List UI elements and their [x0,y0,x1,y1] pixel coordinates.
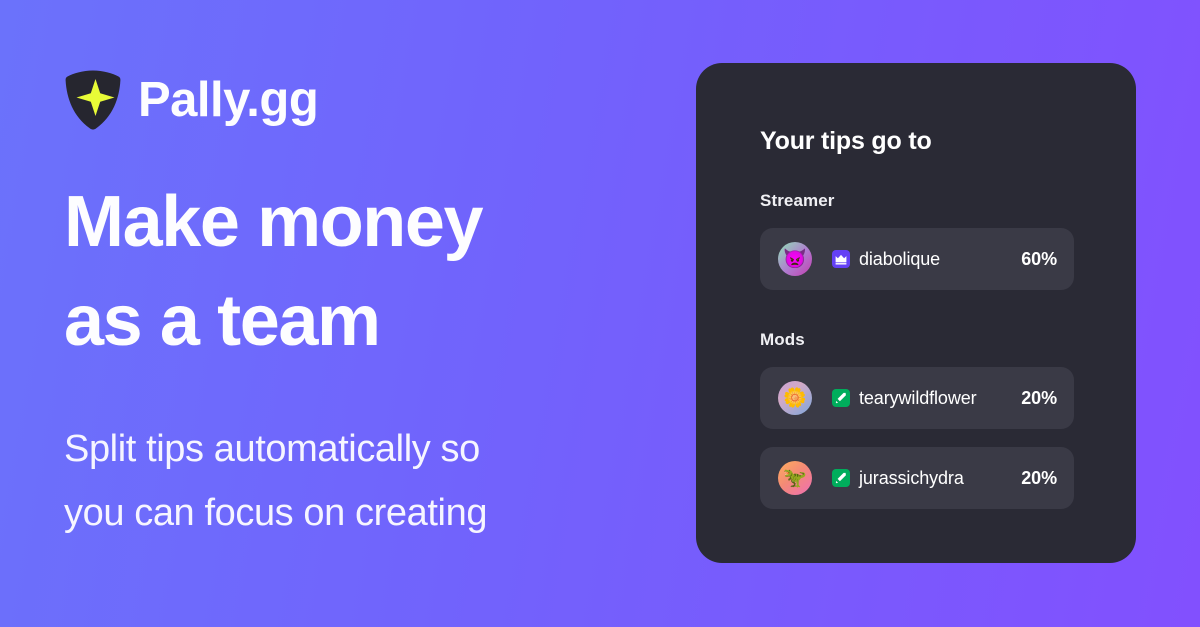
headline-line-2: as a team [64,272,664,371]
hero-panel: Pally.gg Make money as a team Split tips… [64,62,664,545]
tip-row-mod-2[interactable]: 🦖 jurassichydra 20% [760,447,1074,509]
moderator-sword-icon [832,389,850,407]
tip-row-name: diabolique [859,249,940,270]
moderator-sword-icon [832,469,850,487]
group-label-mods: Mods [760,331,1074,348]
subhead-line-2: you can focus on creating [64,482,664,546]
tips-split-card: Your tips go to Streamer 👿 diabolique 60… [696,63,1136,563]
avatar: 🌼 [778,381,812,415]
group-label-streamer: Streamer [760,192,1074,209]
avatar: 👿 [778,242,812,276]
card-title: Your tips go to [760,129,1074,154]
page-subtitle: Split tips automatically so you can focu… [64,418,664,546]
tip-row-streamer[interactable]: 👿 diabolique 60% [760,228,1074,290]
headline-line-1: Make money [64,173,664,272]
sparkle-shield-icon [64,69,122,131]
brand-name: Pally.gg [138,76,318,125]
tip-row-percent: 20% [1021,468,1057,489]
avatar: 🦖 [778,461,812,495]
tip-row-mod-1[interactable]: 🌼 tearywildflower 20% [760,367,1074,429]
tip-row-name: jurassichydra [859,468,964,489]
brand-lockup: Pally.gg [64,62,664,138]
subhead-line-1: Split tips automatically so [64,418,664,482]
tip-row-percent: 20% [1021,388,1057,409]
tip-row-name: tearywildflower [859,388,977,409]
broadcaster-crown-icon [832,250,850,268]
tip-row-percent: 60% [1021,249,1057,270]
page-title: Make money as a team [64,173,664,372]
